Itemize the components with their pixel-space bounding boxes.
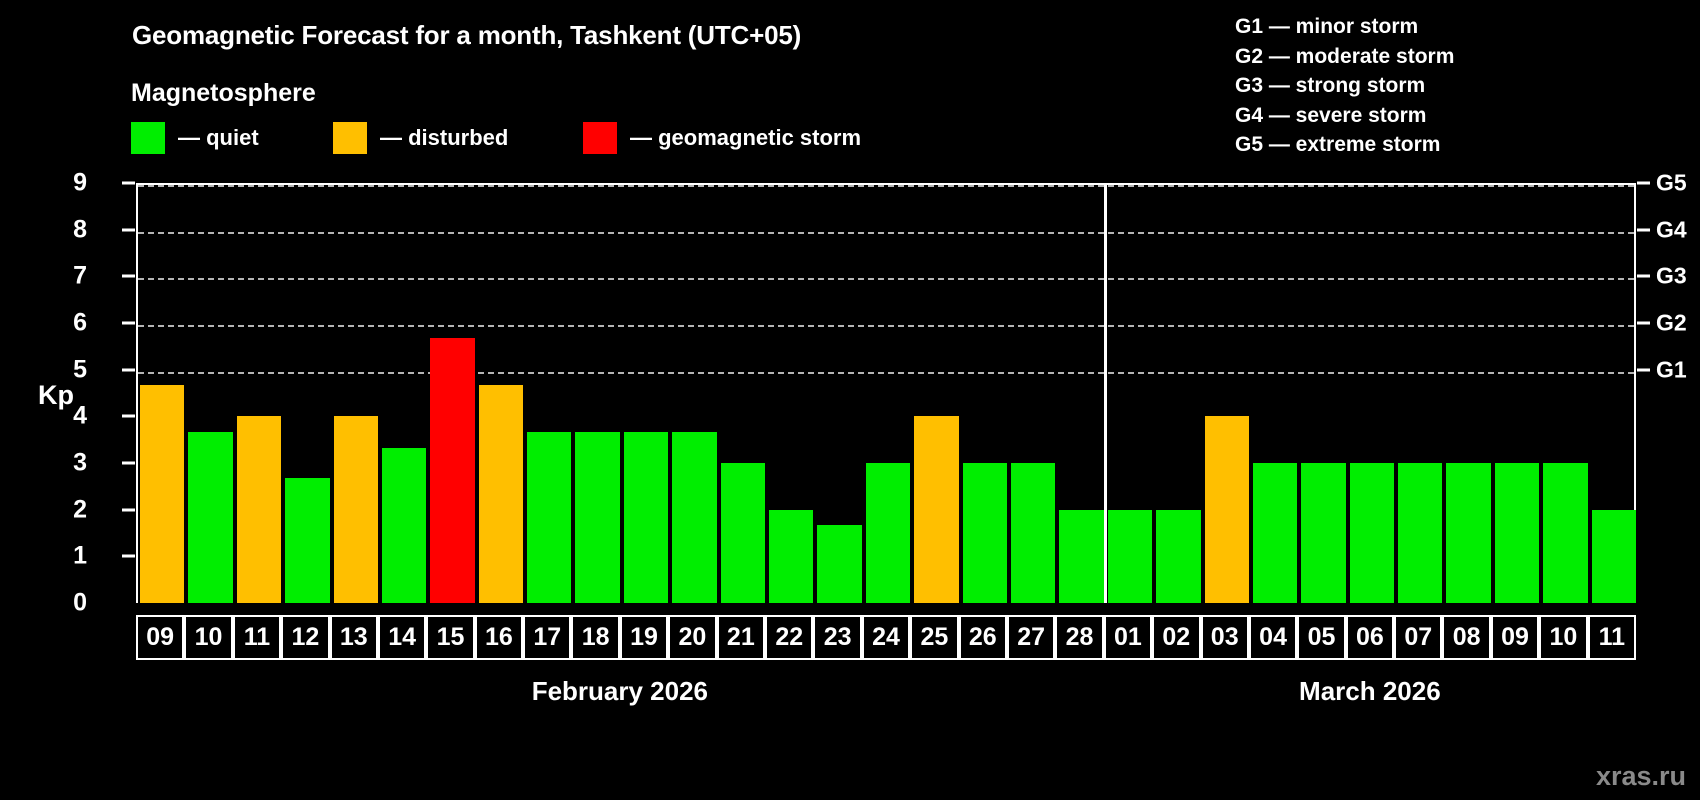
bar-february-10: [188, 432, 232, 603]
y-tick-mark-3: [122, 462, 135, 465]
day-label-february-20: 20: [668, 615, 716, 660]
y-tick-label-6: 6: [47, 309, 87, 338]
bars-layer: [138, 185, 1634, 603]
legend-label: — geomagnetic storm: [630, 125, 861, 151]
bar-march-07: [1398, 463, 1442, 603]
day-label-february-26: 26: [959, 615, 1007, 660]
bar-february-14: [382, 448, 426, 603]
bar-february-18: [575, 432, 619, 603]
g-legend-row-3: G3 — strong storm: [1235, 71, 1454, 101]
day-label-february-15: 15: [426, 615, 474, 660]
g-tick-label-g2: G2: [1656, 310, 1687, 337]
day-label-february-27: 27: [1007, 615, 1055, 660]
g-tick-label-g1: G1: [1656, 356, 1687, 383]
day-label-february-24: 24: [862, 615, 910, 660]
storm-swatch: [583, 122, 617, 154]
legend-label: — quiet: [178, 125, 259, 151]
y-tick-mark-6: [122, 322, 135, 325]
g-tick-mark-g2: [1637, 322, 1650, 325]
magnetosphere-section-label: Magnetosphere: [131, 79, 316, 108]
day-label-march-10: 10: [1539, 615, 1587, 660]
bar-february-11: [237, 416, 281, 603]
bar-march-01: [1108, 510, 1152, 603]
bar-march-10: [1543, 463, 1587, 603]
g-legend-row-5: G5 — extreme storm: [1235, 130, 1454, 160]
bar-february-25: [914, 416, 958, 603]
bar-february-23: [817, 525, 861, 603]
y-tick-label-8: 8: [47, 215, 87, 244]
day-label-february-13: 13: [330, 615, 378, 660]
bar-february-09: [140, 385, 184, 603]
day-label-february-17: 17: [523, 615, 571, 660]
month-label-march: March 2026: [1299, 676, 1441, 707]
y-tick-mark-8: [122, 228, 135, 231]
day-label-february-25: 25: [910, 615, 958, 660]
bar-february-13: [334, 416, 378, 603]
day-label-february-19: 19: [620, 615, 668, 660]
legend-label: — disturbed: [380, 125, 508, 151]
y-tick-label-4: 4: [47, 402, 87, 431]
day-label-february-28: 28: [1055, 615, 1103, 660]
bar-february-24: [866, 463, 910, 603]
watermark: xras.ru: [1596, 761, 1686, 792]
day-label-february-12: 12: [281, 615, 329, 660]
y-tick-label-3: 3: [47, 449, 87, 478]
day-label-march-01: 01: [1104, 615, 1152, 660]
quiet-swatch: [131, 122, 165, 154]
bar-march-11: [1592, 510, 1636, 603]
g-tick-mark-g3: [1637, 275, 1650, 278]
y-tick-mark-9: [122, 182, 135, 185]
g-legend-row-4: G4 — severe storm: [1235, 101, 1454, 131]
y-tick-label-5: 5: [47, 355, 87, 384]
bar-february-19: [624, 432, 668, 603]
g-tick-mark-g4: [1637, 228, 1650, 231]
bar-february-15: [430, 338, 474, 603]
bar-february-27: [1011, 463, 1055, 603]
day-label-march-02: 02: [1152, 615, 1200, 660]
bar-march-02: [1156, 510, 1200, 603]
bar-february-16: [479, 385, 523, 603]
y-tick-mark-5: [122, 368, 135, 371]
page-title: Geomagnetic Forecast for a month, Tashke…: [132, 20, 801, 51]
day-label-february-16: 16: [475, 615, 523, 660]
day-label-march-07: 07: [1394, 615, 1442, 660]
month-divider: [1104, 185, 1107, 603]
legend-entry-storm: — geomagnetic storm: [583, 122, 861, 154]
g-legend-row-2: G2 — moderate storm: [1235, 42, 1454, 72]
day-label-february-21: 21: [717, 615, 765, 660]
day-label-february-18: 18: [571, 615, 619, 660]
bar-march-09: [1495, 463, 1539, 603]
y-tick-label-9: 9: [47, 169, 87, 198]
bar-february-12: [285, 478, 329, 603]
day-label-march-03: 03: [1201, 615, 1249, 660]
chart-plot-area: [136, 183, 1636, 603]
bar-february-28: [1059, 510, 1103, 603]
g-tick-label-g4: G4: [1656, 216, 1687, 243]
y-tick-label-2: 2: [47, 495, 87, 524]
g-tick-mark-g1: [1637, 368, 1650, 371]
day-label-february-14: 14: [378, 615, 426, 660]
bar-march-06: [1350, 463, 1394, 603]
y-tick-label-0: 0: [47, 589, 87, 618]
y-tick-label-7: 7: [47, 262, 87, 291]
day-label-february-23: 23: [813, 615, 861, 660]
bar-march-08: [1446, 463, 1490, 603]
day-label-march-08: 08: [1442, 615, 1490, 660]
day-label-march-04: 04: [1249, 615, 1297, 660]
legend-entry-disturbed: — disturbed: [333, 122, 508, 154]
y-tick-mark-7: [122, 275, 135, 278]
bar-february-22: [769, 510, 813, 603]
day-label-february-10: 10: [184, 615, 232, 660]
y-tick-mark-1: [122, 555, 135, 558]
g-legend-row-1: G1 — minor storm: [1235, 12, 1454, 42]
g-tick-label-g3: G3: [1656, 263, 1687, 290]
day-label-march-09: 09: [1491, 615, 1539, 660]
month-label-february: February 2026: [532, 676, 708, 707]
y-tick-mark-4: [122, 415, 135, 418]
bar-february-26: [963, 463, 1007, 603]
bar-february-17: [527, 432, 571, 603]
g-tick-label-g5: G5: [1656, 170, 1687, 197]
day-label-march-05: 05: [1297, 615, 1345, 660]
g-scale-legend: G1 — minor stormG2 — moderate stormG3 — …: [1235, 12, 1454, 160]
bar-march-03: [1205, 416, 1249, 603]
day-label-february-09: 09: [136, 615, 184, 660]
y-tick-label-1: 1: [47, 542, 87, 571]
g-tick-mark-g5: [1637, 182, 1650, 185]
bar-february-20: [672, 432, 716, 603]
day-label-february-11: 11: [233, 615, 281, 660]
bar-march-05: [1301, 463, 1345, 603]
day-label-february-22: 22: [765, 615, 813, 660]
bar-february-21: [721, 463, 765, 603]
bar-march-04: [1253, 463, 1297, 603]
day-label-march-11: 11: [1588, 615, 1636, 660]
y-tick-mark-2: [122, 508, 135, 511]
legend-entry-quiet: — quiet: [131, 122, 259, 154]
day-label-march-06: 06: [1346, 615, 1394, 660]
disturbed-swatch: [333, 122, 367, 154]
day-label-row: 0910111213141516171819202122232425262728…: [136, 615, 1636, 660]
